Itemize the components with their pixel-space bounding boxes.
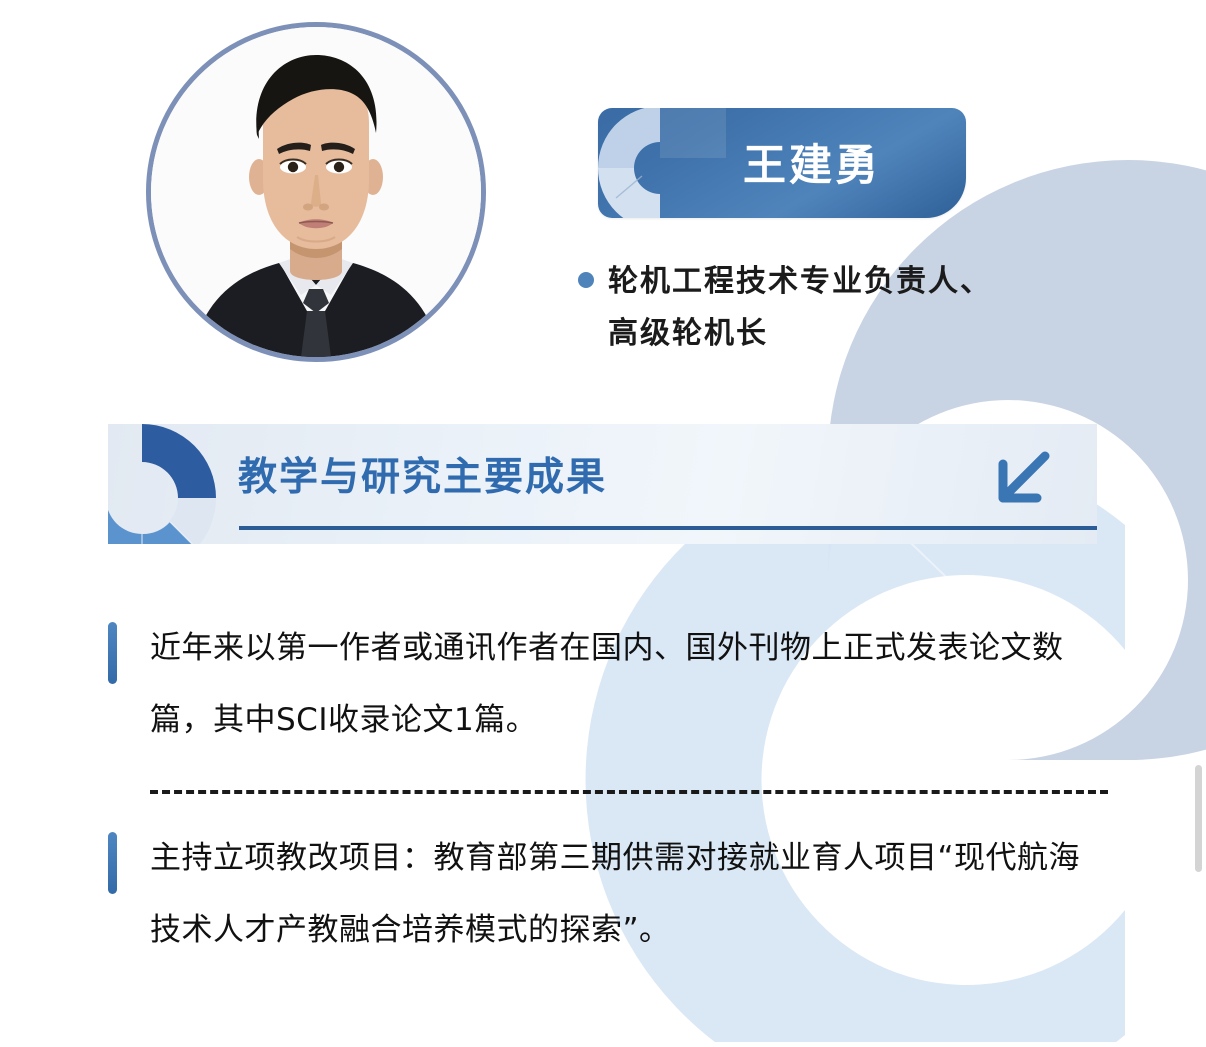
page-scrollbar[interactable] <box>1192 0 1206 1042</box>
dashed-divider <box>150 790 1108 794</box>
quarter-ring-decoration <box>108 424 222 544</box>
list-item: 主持立项教改项目：教育部第三期供需对接就业育人项目“现代航海技术人才产教融合培养… <box>108 822 1108 966</box>
name-badge: 王建勇 <box>598 108 966 218</box>
paragraph-marker-bar <box>108 622 117 684</box>
person-portrait-photo <box>151 27 481 357</box>
section-header: 教学与研究主要成果 <box>108 424 1097 544</box>
achievements-list: 近年来以第一作者或通讯作者在国内、国外刊物上正式发表论文数篇，其中SCI收录论文… <box>108 612 1108 966</box>
section-underline <box>239 526 1097 530</box>
section-title: 教学与研究主要成果 <box>238 446 607 502</box>
avatar <box>146 22 486 362</box>
scrollbar-thumb[interactable] <box>1195 765 1202 872</box>
role-line: 高级轮机长 <box>608 308 1098 360</box>
bullet-dot-icon <box>578 272 594 288</box>
name-badge-text: 王建勇 <box>598 131 966 193</box>
achievement-text: 主持立项教改项目：教育部第三期供需对接就业育人项目“现代航海技术人才产教融合培养… <box>150 822 1108 966</box>
role-line: 轮机工程技术专业负责人、 <box>608 256 1098 308</box>
paragraph-marker-bar <box>108 832 117 894</box>
achievement-text: 近年来以第一作者或通讯作者在国内、国外刊物上正式发表论文数篇，其中SCI收录论文… <box>150 612 1108 756</box>
list-item: 近年来以第一作者或通讯作者在国内、国外刊物上正式发表论文数篇，其中SCI收录论文… <box>108 612 1108 756</box>
arrow-down-left-icon <box>991 448 1053 510</box>
role-block: 轮机工程技术专业负责人、 高级轮机长 <box>578 256 1098 360</box>
